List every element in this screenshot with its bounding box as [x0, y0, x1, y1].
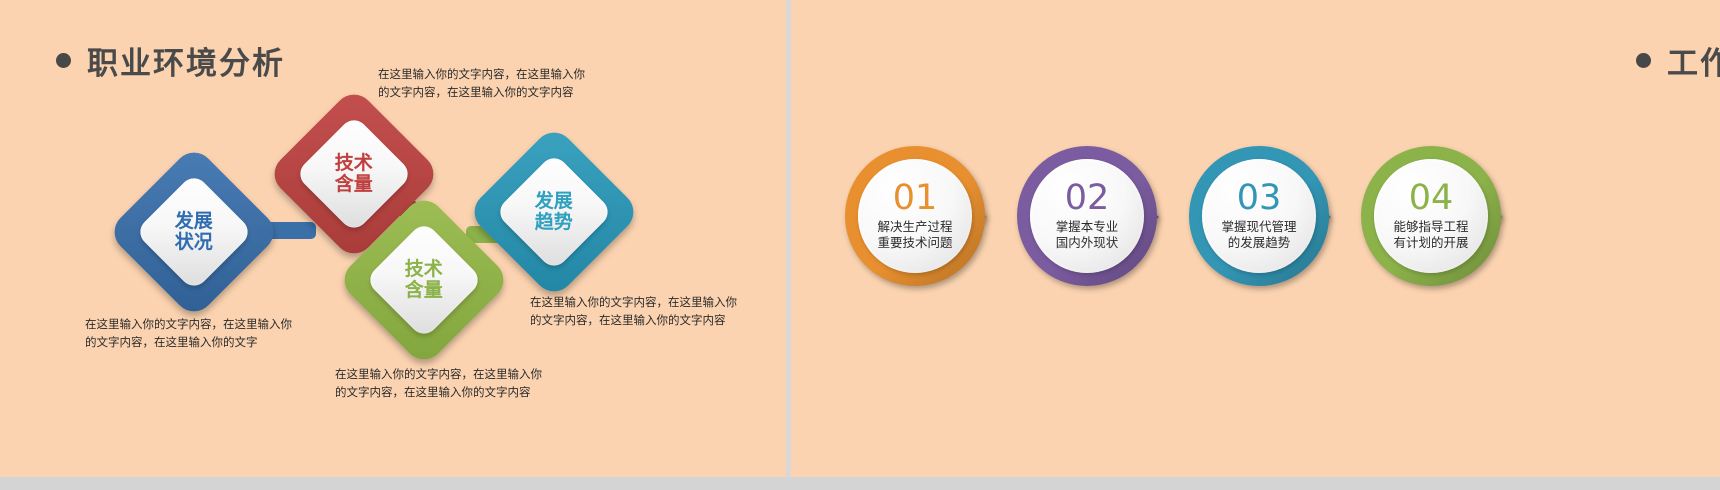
description-text-bottom: 在这里输入你的文字内容，在这里输入你的文字内容，在这里输入你的文字内容: [335, 366, 547, 402]
page-title-left-text: 职业环境分析: [87, 38, 285, 83]
page-title-right-text: 工作内容: [1667, 38, 1720, 83]
bullet-dot-icon: [1636, 53, 1651, 68]
description-text-left: 在这里输入你的文字内容，在这里输入你的文字内容，在这里输入你的文字: [85, 316, 293, 352]
diamond-inner-face: 技术 含量: [365, 221, 484, 340]
process-steps-row: 01 解决生产过程 重要技术问题 02 掌握本专业 国内外现状 03 掌握现代管…: [845, 146, 1533, 286]
deck-bottom-strip: [0, 477, 1720, 490]
step-face: 04 能够指导工程 有计划的开展: [1374, 159, 1488, 273]
diamond-inner-face: 技术 含量: [295, 115, 414, 234]
step-number: 03: [1237, 181, 1282, 216]
page-title-left: 职业环境分析: [56, 38, 285, 83]
step-number: 02: [1065, 181, 1110, 216]
diamond-label: 发展 状况: [175, 211, 213, 254]
step-02-purple[interactable]: 02 掌握本专业 国内外现状: [1017, 146, 1169, 286]
step-description: 掌握现代管理 的发展趋势: [1221, 219, 1296, 252]
diamond-inner-face: 发展 趋势: [495, 153, 614, 272]
step-description: 掌握本专业 国内外现状: [1056, 219, 1119, 252]
step-03-teal[interactable]: 03 掌握现代管理 的发展趋势: [1189, 146, 1341, 286]
diamond-label: 技术 含量: [335, 153, 373, 196]
step-face: 03 掌握现代管理 的发展趋势: [1202, 159, 1316, 273]
diamond-inner-face: 发展 状况: [135, 173, 254, 292]
diamond-label: 发展 趋势: [535, 191, 573, 234]
diamond-development-status[interactable]: 发展 状况: [106, 144, 281, 319]
step-face: 01 解决生产过程 重要技术问题: [858, 159, 972, 273]
description-text-top: 在这里输入你的文字内容，在这里输入你的文字内容，在这里输入你的文字内容: [378, 66, 590, 102]
diamond-label: 技术 含量: [405, 259, 443, 302]
slide-left[interactable]: 职业环境分析 发展 状况 技术 含量 技术 含量 发展 趋势: [0, 0, 786, 477]
step-04-green[interactable]: 04 能够指导工程 有计划的开展: [1361, 146, 1513, 286]
slide-deck-viewport: 职业环境分析 发展 状况 技术 含量 技术 含量 发展 趋势: [0, 0, 1720, 490]
step-description: 能够指导工程 有计划的开展: [1393, 219, 1468, 252]
step-01-orange[interactable]: 01 解决生产过程 重要技术问题: [845, 146, 997, 286]
bullet-dot-icon: [56, 53, 71, 68]
description-text-right: 在这里输入你的文字内容，在这里输入你的文字内容，在这里输入你的文字内容: [530, 294, 748, 330]
step-number: 04: [1409, 181, 1454, 216]
step-number: 01: [893, 181, 938, 216]
step-face: 02 掌握本专业 国内外现状: [1030, 159, 1144, 273]
step-description: 解决生产过程 重要技术问题: [877, 219, 952, 252]
page-title-right: 工作内容: [1636, 38, 1720, 83]
